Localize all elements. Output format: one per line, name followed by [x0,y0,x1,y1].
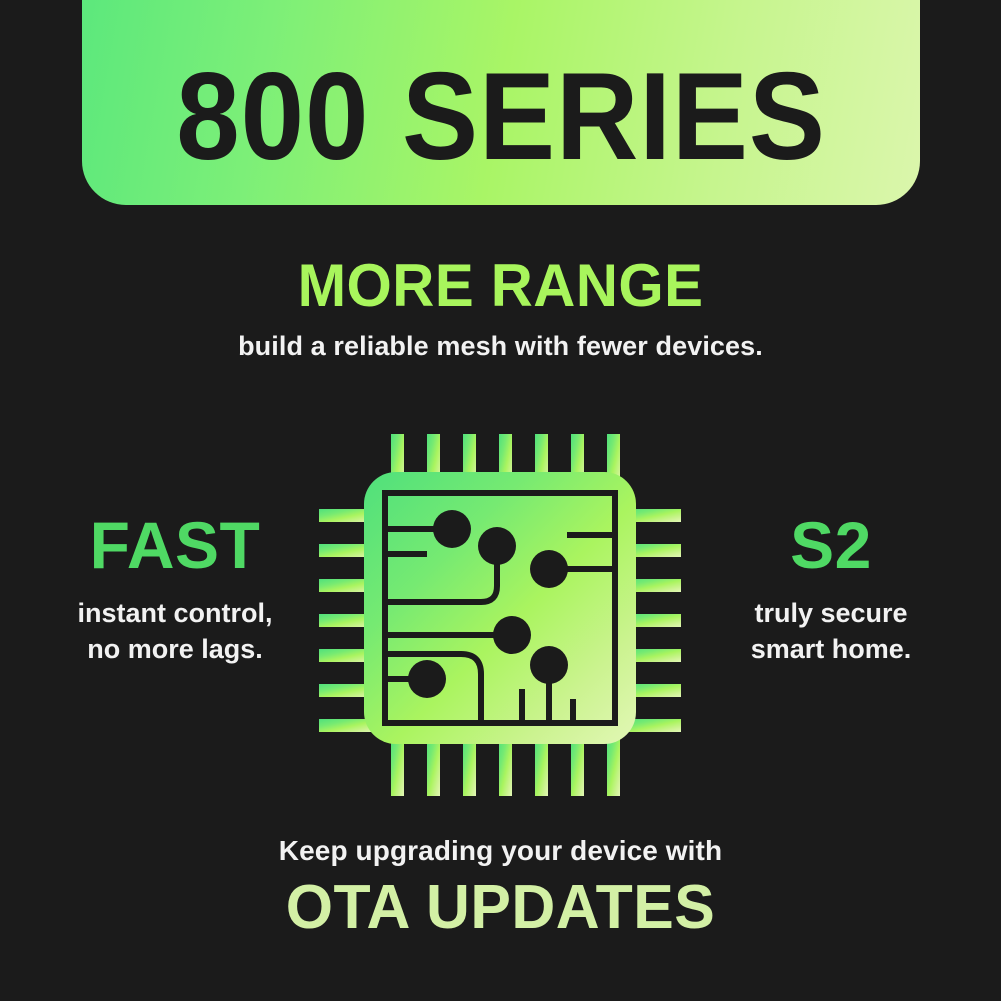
fast-subtitle: instant control, no more lags. [30,596,320,667]
fast-subtitle-line2: no more lags. [30,632,320,668]
ota-section: Keep upgrading your device with OTA UPDA… [0,836,1001,940]
s2-headline: S2 [686,512,976,578]
feature-left-fast: FAST instant control, no more lags. [30,512,320,667]
chip-body [364,472,636,744]
fast-headline: FAST [30,512,320,578]
s2-subtitle-line2: smart home. [686,632,976,668]
s2-subtitle: truly secure smart home. [686,596,976,667]
microchip-icon [309,424,691,806]
ota-headline: OTA UPDATES [10,875,991,940]
ota-subtitle: Keep upgrading your device with [0,836,1001,867]
more-range-headline: MORE RANGE [15,255,986,316]
banner-title: 800 SERIES [176,55,826,205]
series-banner: 800 SERIES [82,0,920,205]
more-range-subtitle: build a reliable mesh with fewer devices… [0,331,1001,363]
more-range-section: MORE RANGE build a reliable mesh with fe… [0,255,1001,363]
feature-right-s2: S2 truly secure smart home. [686,512,976,667]
infographic-canvas: 800 SERIES MORE RANGE build a reliable m… [0,0,1001,1001]
fast-subtitle-line1: instant control, [30,596,320,632]
s2-subtitle-line1: truly secure [686,596,976,632]
